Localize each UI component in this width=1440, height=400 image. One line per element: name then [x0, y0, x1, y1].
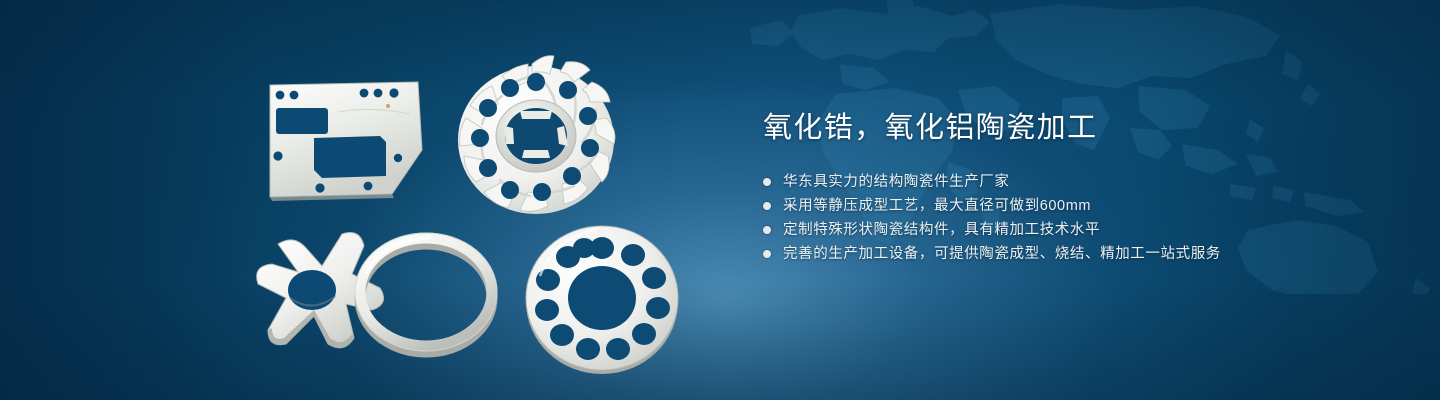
- bullet-text: 完善的生产加工设备，可提供陶瓷成型、烧结、精加工一站式服务: [783, 242, 1221, 266]
- bullet-dot-icon: [763, 250, 771, 258]
- banner-feature-list: 华东具实力的结构陶瓷件生产厂家 采用等静压成型工艺，最大直径可做到600mm 定…: [763, 170, 1383, 266]
- bullet-text: 定制特殊形状陶瓷结构件，具有精加工技术水平: [783, 218, 1100, 242]
- banner-headline: 氧化锆，氧化铝陶瓷加工: [763, 108, 1383, 148]
- bullet-dot-icon: [763, 226, 771, 234]
- promo-banner: 氧化锆，氧化铝陶瓷加工 华东具实力的结构陶瓷件生产厂家 采用等静压成型工艺，最大…: [0, 0, 1440, 400]
- list-item: 完善的生产加工设备，可提供陶瓷成型、烧结、精加工一站式服务: [763, 242, 1383, 266]
- list-item: 华东具实力的结构陶瓷件生产厂家: [763, 170, 1383, 194]
- ceramic-ring-image: [348, 226, 508, 361]
- bullet-dot-icon: [763, 178, 771, 186]
- list-item: 定制特殊形状陶瓷结构件，具有精加工技术水平: [763, 218, 1383, 242]
- bullet-text: 华东具实力的结构陶瓷件生产厂家: [783, 170, 1010, 194]
- banner-copy: 氧化锆，氧化铝陶瓷加工 华东具实力的结构陶瓷件生产厂家 采用等静压成型工艺，最大…: [763, 108, 1383, 266]
- bullet-text: 采用等静压成型工艺，最大直径可做到600mm: [783, 194, 1091, 218]
- ceramic-perforated-disc-image: [518, 220, 688, 380]
- ceramic-plate-image: [246, 78, 436, 203]
- list-item: 采用等静压成型工艺，最大直径可做到600mm: [763, 194, 1383, 218]
- bullet-dot-icon: [763, 202, 771, 210]
- ceramic-impeller-image: [446, 48, 626, 228]
- product-collage: [0, 0, 760, 400]
